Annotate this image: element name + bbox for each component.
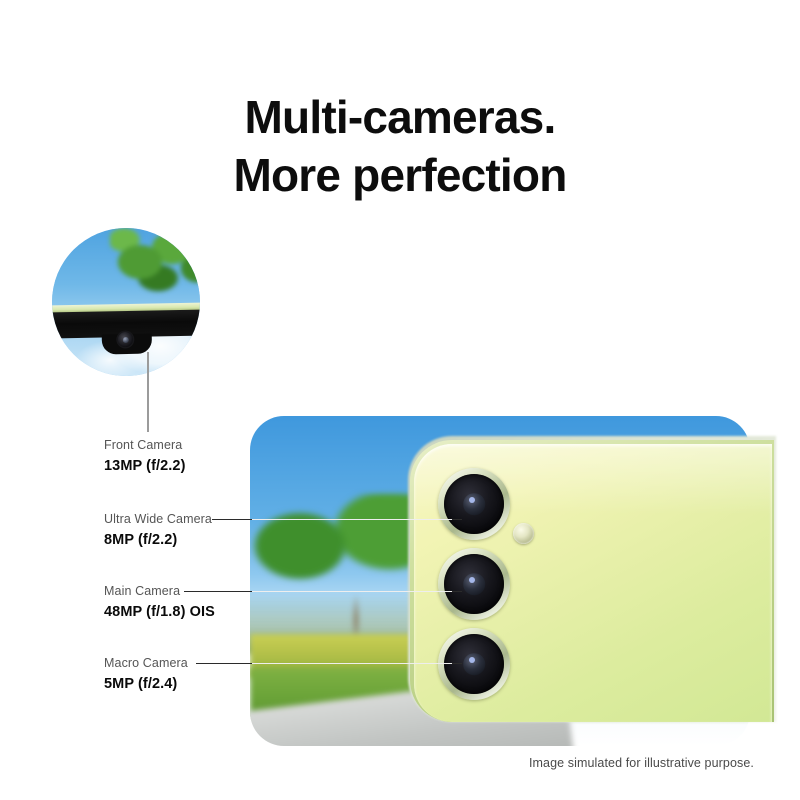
lens-inner-element: [463, 493, 485, 515]
page-title: Multi-cameras. More perfection: [0, 88, 800, 205]
phone-rear-body: [408, 430, 798, 722]
lens-specular-highlight: [469, 497, 475, 503]
spec-macro-camera-value: 5MP (f/2.4): [104, 676, 188, 693]
product-feature-slide: Multi-cameras. More perfection: [0, 0, 800, 800]
lens-inner-element: [463, 573, 485, 595]
lens-specular-highlight: [469, 577, 475, 583]
spec-macro-camera-title: Macro Camera: [104, 656, 188, 671]
lens-glass: [444, 554, 504, 614]
spec-ultra-wide-camera-title: Ultra Wide Camera: [104, 512, 212, 527]
lens-specular-highlight: [469, 657, 475, 663]
inset-phone-top-edge: [52, 302, 200, 376]
spec-main-camera: Main Camera 48MP (f/1.8) OIS: [104, 584, 215, 621]
spec-ultra-wide-camera: Ultra Wide Camera 8MP (f/2.2): [104, 512, 212, 549]
ultra-wide-leader-line-overlay: [252, 519, 452, 520]
macro-camera-leader-line-overlay: [252, 663, 452, 664]
inset-foliage: [110, 228, 200, 304]
spec-front-camera-value: 13MP (f/2.2): [104, 458, 186, 475]
front-camera-leader-line: [147, 352, 149, 432]
lens-inner-element: [463, 653, 485, 675]
headline-line-1: Multi-cameras.: [0, 88, 800, 146]
lens-glass: [444, 474, 504, 534]
spec-ultra-wide-camera-value: 8MP (f/2.2): [104, 532, 212, 549]
front-camera-inset: [52, 228, 200, 376]
spec-macro-camera: Macro Camera 5MP (f/2.4): [104, 656, 188, 693]
spec-front-camera: Front Camera 13MP (f/2.2): [104, 438, 186, 475]
main-camera-leader-line-overlay: [252, 591, 452, 592]
headline-line-2: More perfection: [0, 146, 800, 204]
spec-main-camera-value: 48MP (f/1.8) OIS: [104, 604, 215, 621]
ultra-wide-lens-icon: [438, 468, 510, 540]
spec-front-camera-title: Front Camera: [104, 438, 186, 453]
led-flash-icon: [513, 523, 534, 544]
disclaimer-note: Image simulated for illustrative purpose…: [529, 756, 754, 770]
main-lens-icon: [438, 548, 510, 620]
